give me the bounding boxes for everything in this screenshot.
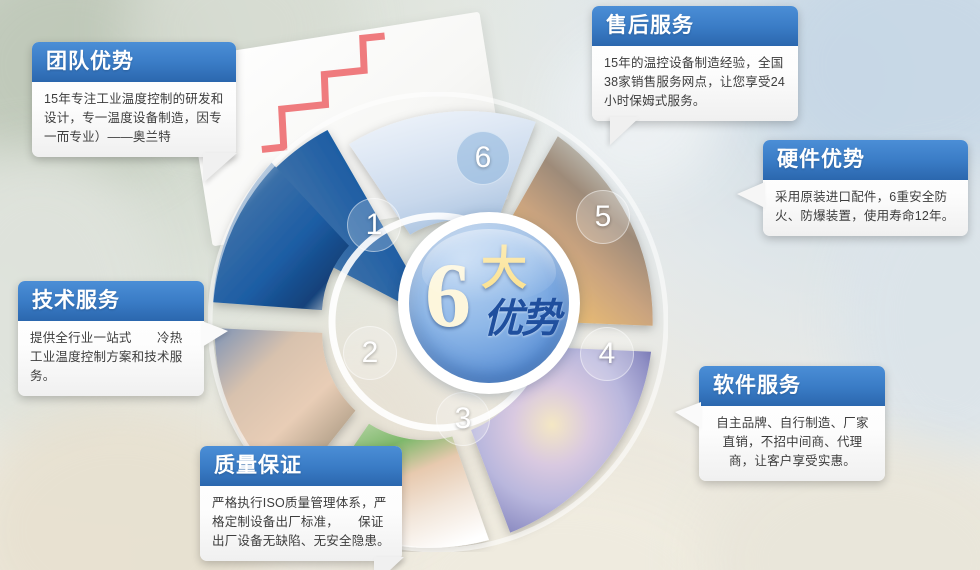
callout-after-sales-title: 售后服务 — [592, 6, 798, 46]
callout-software-service[interactable]: 软件服务 自主品牌、自行制造、厂家直销，不招中间商、代理商，让客户享受实惠。 — [699, 366, 885, 481]
callout-tail — [737, 182, 765, 208]
callout-software-body: 自主品牌、自行制造、厂家直销，不招中间商、代理商，让客户享受实惠。 — [699, 406, 885, 481]
medallion-char-da: 大 — [481, 245, 527, 291]
segment-number-5: 5 — [576, 190, 630, 244]
callout-technical-body: 提供全行业一站式 冷热工业温度控制方案和技术服务。 — [18, 321, 204, 396]
medallion-number-6: 6 — [425, 249, 471, 341]
callout-after-sales[interactable]: 售后服务 15年的温控设备制造经验，全国38家销售服务网点，让您享受24小时保姆… — [592, 6, 798, 121]
callout-hardware-advantage[interactable]: 硬件优势 采用原装进口配件，6重安全防火、防爆装置，使用寿命12年。 — [763, 140, 968, 236]
callout-after-sales-body: 15年的温控设备制造经验，全国38家销售服务网点，让您享受24小时保姆式服务。 — [592, 46, 798, 121]
callout-technical-service[interactable]: 技术服务 提供全行业一站式 冷热工业温度控制方案和技术服务。 — [18, 281, 204, 396]
callout-hardware-title: 硬件优势 — [763, 140, 968, 180]
segment-number-6: 6 — [456, 131, 510, 185]
callout-team-title: 团队优势 — [32, 42, 236, 82]
callout-tail — [374, 557, 404, 570]
segment-number-1: 1 — [347, 198, 401, 252]
callout-team-advantage[interactable]: 团队优势 15年专注工业温度控制的研发和设计，专一温度设备制造，因专一而专业）—… — [32, 42, 236, 157]
infographic-canvas: 1 2 3 4 5 6 6 大 优势 团队优势 15年专注工业温度控制的研发和设… — [0, 0, 980, 570]
callout-tail — [610, 117, 640, 145]
callout-quality-guarantee[interactable]: 质量保证 严格执行ISO质量管理体系，严格定制设备出厂标准， 保证出厂设备无缺陷… — [200, 446, 402, 561]
medallion-char-youshi: 优势 — [483, 297, 559, 341]
segment-number-2: 2 — [343, 326, 397, 380]
segment-number-4: 4 — [580, 327, 634, 381]
callout-quality-title: 质量保证 — [200, 446, 402, 486]
callout-team-body: 15年专注工业温度控制的研发和设计，专一温度设备制造，因专一而专业）——奥兰特 — [32, 82, 236, 157]
segment-number-3: 3 — [436, 392, 490, 446]
medallion-disc: 6 大 优势 — [409, 223, 569, 383]
center-medallion: 6 大 优势 — [398, 212, 580, 394]
callout-tail — [203, 153, 237, 183]
callout-technical-title: 技术服务 — [18, 281, 204, 321]
callout-software-title: 软件服务 — [699, 366, 885, 406]
callout-hardware-body: 采用原装进口配件，6重安全防火、防爆装置，使用寿命12年。 — [763, 180, 968, 236]
callout-quality-body: 严格执行ISO质量管理体系，严格定制设备出厂标准， 保证出厂设备无缺陷、无安全隐… — [200, 486, 402, 561]
callout-tail — [675, 402, 701, 428]
callout-tail — [202, 321, 228, 347]
